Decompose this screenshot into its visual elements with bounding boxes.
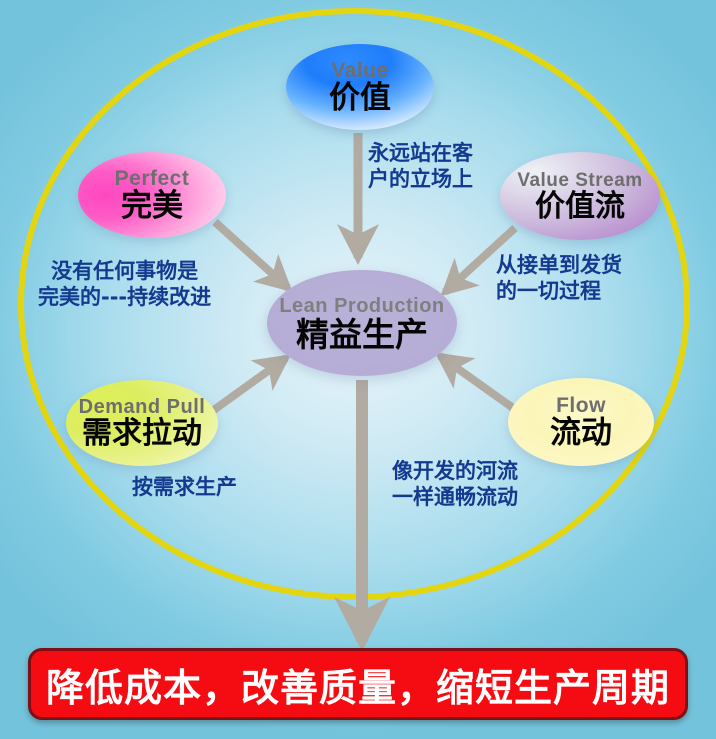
node-value-stream[interactable]: Value Stream 价值流 (500, 152, 660, 240)
annotation-value: 永远站在客 户的立场上 (368, 140, 473, 193)
annotation-flow: 像开发的河流 一样通畅流动 (392, 458, 518, 511)
node-lean-production-cn: 精益生产 (296, 318, 428, 351)
node-lean-production-en: Lean Production (279, 296, 444, 316)
annotation-demand-pull: 按需求生产 (132, 474, 237, 500)
node-flow[interactable]: Flow 流动 (508, 378, 654, 466)
node-perfect[interactable]: Perfect 完美 (78, 152, 226, 238)
node-demand-pull-cn: 需求拉动 (82, 419, 202, 449)
node-value-stream-en: Value Stream (517, 171, 642, 190)
node-value-stream-cn: 价值流 (535, 192, 625, 222)
node-value-cn: 价值 (329, 83, 391, 114)
outcome-banner: 降低成本，改善质量，缩短生产周期 (28, 648, 688, 720)
node-demand-pull-en: Demand Pull (79, 397, 206, 417)
node-value[interactable]: Value 价值 (286, 44, 434, 130)
node-flow-en: Flow (556, 395, 606, 416)
node-perfect-cn: 完美 (121, 191, 183, 222)
node-lean-production[interactable]: Lean Production 精益生产 (267, 270, 457, 376)
node-perfect-en: Perfect (115, 168, 190, 189)
annotation-perfect: 没有任何事物是 完美的---持续改进 (38, 258, 211, 311)
node-flow-cn: 流动 (550, 418, 612, 449)
annotation-value-stream: 从接单到发货 的一切过程 (496, 252, 622, 305)
node-value-en: Value (331, 60, 388, 81)
lean-production-diagram: Value 价值 Perfect 完美 Value Stream 价值流 Dem… (0, 0, 716, 739)
outcome-banner-text: 降低成本，改善质量，缩短生产周期 (46, 657, 670, 712)
node-demand-pull[interactable]: Demand Pull 需求拉动 (66, 380, 218, 466)
